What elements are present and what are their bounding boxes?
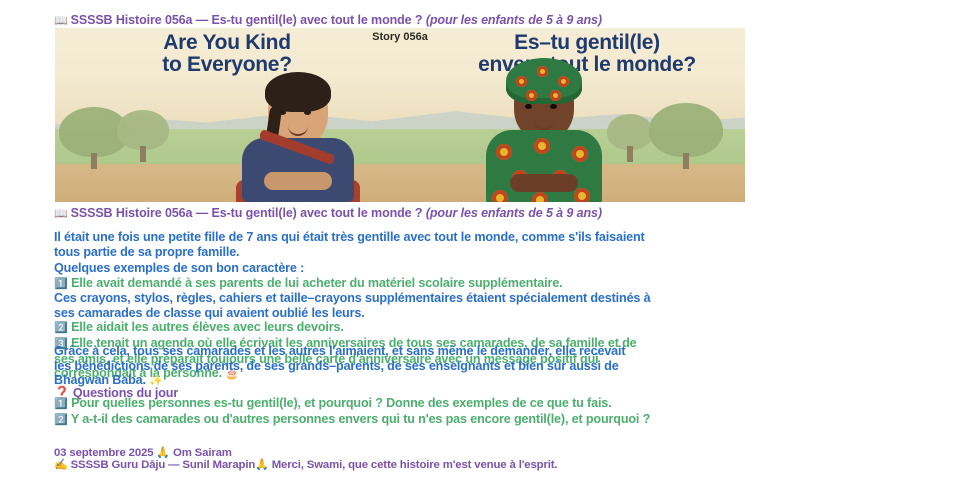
story-illustration: Story 056a Are You Kind to Everyone? Es–… — [55, 28, 745, 202]
title-english-line2: to Everyone? — [91, 54, 363, 76]
question-item-1: 1️⃣ Pour quelles personnes es-tu gentil(… — [54, 396, 954, 412]
examples-heading: Quelques exemples de son bon caractère : — [54, 261, 954, 276]
story-page: 📖SSSSB Histoire 056a — Es-tu gentil(le) … — [0, 0, 976, 488]
footer-signature: SSSSB Guru Dāju — Sunil Marapin — [71, 459, 256, 471]
folded-hands-icon: 🙏 — [255, 459, 269, 471]
intro-line-2: tous partie de sa propre famille. — [54, 245, 954, 260]
footer-date: 03 septembre 2025 — [54, 447, 153, 459]
folded-hands-icon: 🙏 — [156, 447, 170, 459]
example-1-line-2: Ces crayons, stylos, règles, cahiers et … — [54, 291, 954, 306]
paragraph-grace: Grâce à cela, tous ses camarades et les … — [54, 344, 954, 389]
eye-icon — [525, 104, 532, 109]
footer-salutation: Om Sairam — [173, 447, 232, 459]
example-2-line-1: 2️⃣ Elle aidait les autres élèves avec l… — [54, 320, 954, 336]
example-2-text-1: Elle aidait les autres élèves avec leurs… — [71, 320, 344, 334]
number-one-icon: 1️⃣ — [54, 278, 68, 290]
example-1-line-3: ses camarades de classe qui avaient oubl… — [54, 306, 954, 321]
open-book-icon: 📖 — [54, 15, 68, 27]
eye-icon — [304, 110, 311, 115]
paragraph-intro: Il était une fois une petite fille de 7 … — [54, 230, 954, 259]
example-item-2: 2️⃣ Elle aidait les autres élèves avec l… — [54, 320, 954, 336]
question-2-text: Y a-t-il des camarades ou d'autres perso… — [71, 412, 650, 426]
example-1-line-1: 1️⃣ Elle avait demandé à ses parents de … — [54, 276, 954, 292]
caption-top-text: SSSSB Histoire 056a — Es-tu gentil(le) a… — [71, 13, 423, 27]
caption-bottom-text: SSSSB Histoire 056a — Es-tu gentil(le) a… — [71, 206, 423, 220]
caption-bottom: 📖SSSSB Histoire 056a — Es-tu gentil(le) … — [54, 206, 602, 220]
arms-shape — [510, 174, 578, 192]
headwrap-icon — [506, 58, 582, 104]
caption-top-subtitle: (pour les enfants de 5 à 9 ans) — [426, 13, 602, 27]
illustration-title-english: Are You Kind to Everyone? — [91, 32, 363, 77]
caption-top: 📖SSSSB Histoire 056a — Es-tu gentil(le) … — [54, 13, 602, 27]
tree-icon — [649, 103, 723, 157]
girl-figure-left — [213, 76, 383, 202]
number-one-icon: 1️⃣ — [54, 398, 68, 410]
question-item-2: 2️⃣ Y a-t-il des camarades ou d'autres p… — [54, 412, 954, 428]
dress-shape — [242, 138, 354, 202]
caption-bottom-subtitle: (pour les enfants de 5 à 9 ans) — [426, 206, 602, 220]
number-two-icon: 2️⃣ — [54, 322, 68, 334]
grace-line-2: les bénédictions de ses parents, de ses … — [54, 359, 954, 374]
girl-figure-right — [459, 70, 629, 202]
grace-line-1: Grâce à cela, tous ses camarades et les … — [54, 344, 954, 359]
example-item-1: 1️⃣ Elle avait demandé à ses parents de … — [54, 276, 954, 321]
example-1-text-1: Elle avait demandé à ses parents de lui … — [71, 276, 562, 290]
number-two-icon: 2️⃣ — [54, 414, 68, 426]
eye-icon — [279, 110, 286, 115]
footer-signature-line: ✍️ SSSSB Guru Dāju — Sunil Marapin🙏 Merc… — [54, 459, 954, 472]
title-english-line1: Are You Kind — [91, 32, 363, 54]
footer-thanks: Merci, Swami, que cette histoire m'est v… — [272, 459, 558, 471]
tree-icon — [117, 110, 169, 150]
intro-line-1: Il était une fois une petite fille de 7 … — [54, 230, 954, 245]
writing-hand-icon: ✍️ — [54, 459, 68, 471]
eye-icon — [550, 104, 557, 109]
arms-shape — [264, 172, 332, 190]
questions-list: 1️⃣ Pour quelles personnes es-tu gentil(… — [54, 396, 954, 427]
illustration-ground — [55, 164, 745, 202]
question-1-text: Pour quelles personnes es-tu gentil(le),… — [71, 396, 611, 410]
open-book-icon: 📖 — [54, 208, 68, 220]
title-french-line1: Es–tu gentil(le) — [439, 32, 735, 54]
